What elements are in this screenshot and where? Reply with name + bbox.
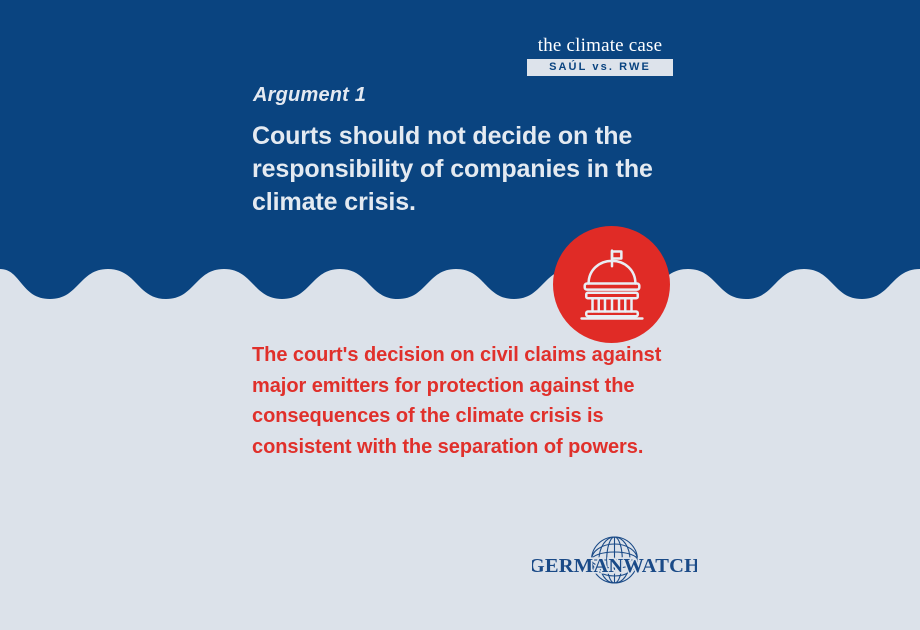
wave-divider	[0, 247, 920, 309]
argument-label: Argument 1	[253, 84, 366, 107]
slide-canvas: the climate case SAÚL vs. RWE Argument 1…	[0, 0, 920, 630]
case-logo-subtitle: SAÚL vs. RWE	[527, 59, 673, 76]
capitol-building-icon	[553, 226, 670, 343]
germanwatch-wordmark: GERMANWATCH	[532, 555, 697, 577]
case-logo-title: the climate case	[527, 35, 673, 56]
argument-heading: Courts should not decide on the responsi…	[252, 120, 682, 219]
case-logo: the climate case SAÚL vs. RWE	[527, 35, 673, 76]
statement-text: The court's decision on civil claims aga…	[252, 340, 682, 462]
germanwatch-logo: GERMANWATCH	[532, 534, 697, 592]
